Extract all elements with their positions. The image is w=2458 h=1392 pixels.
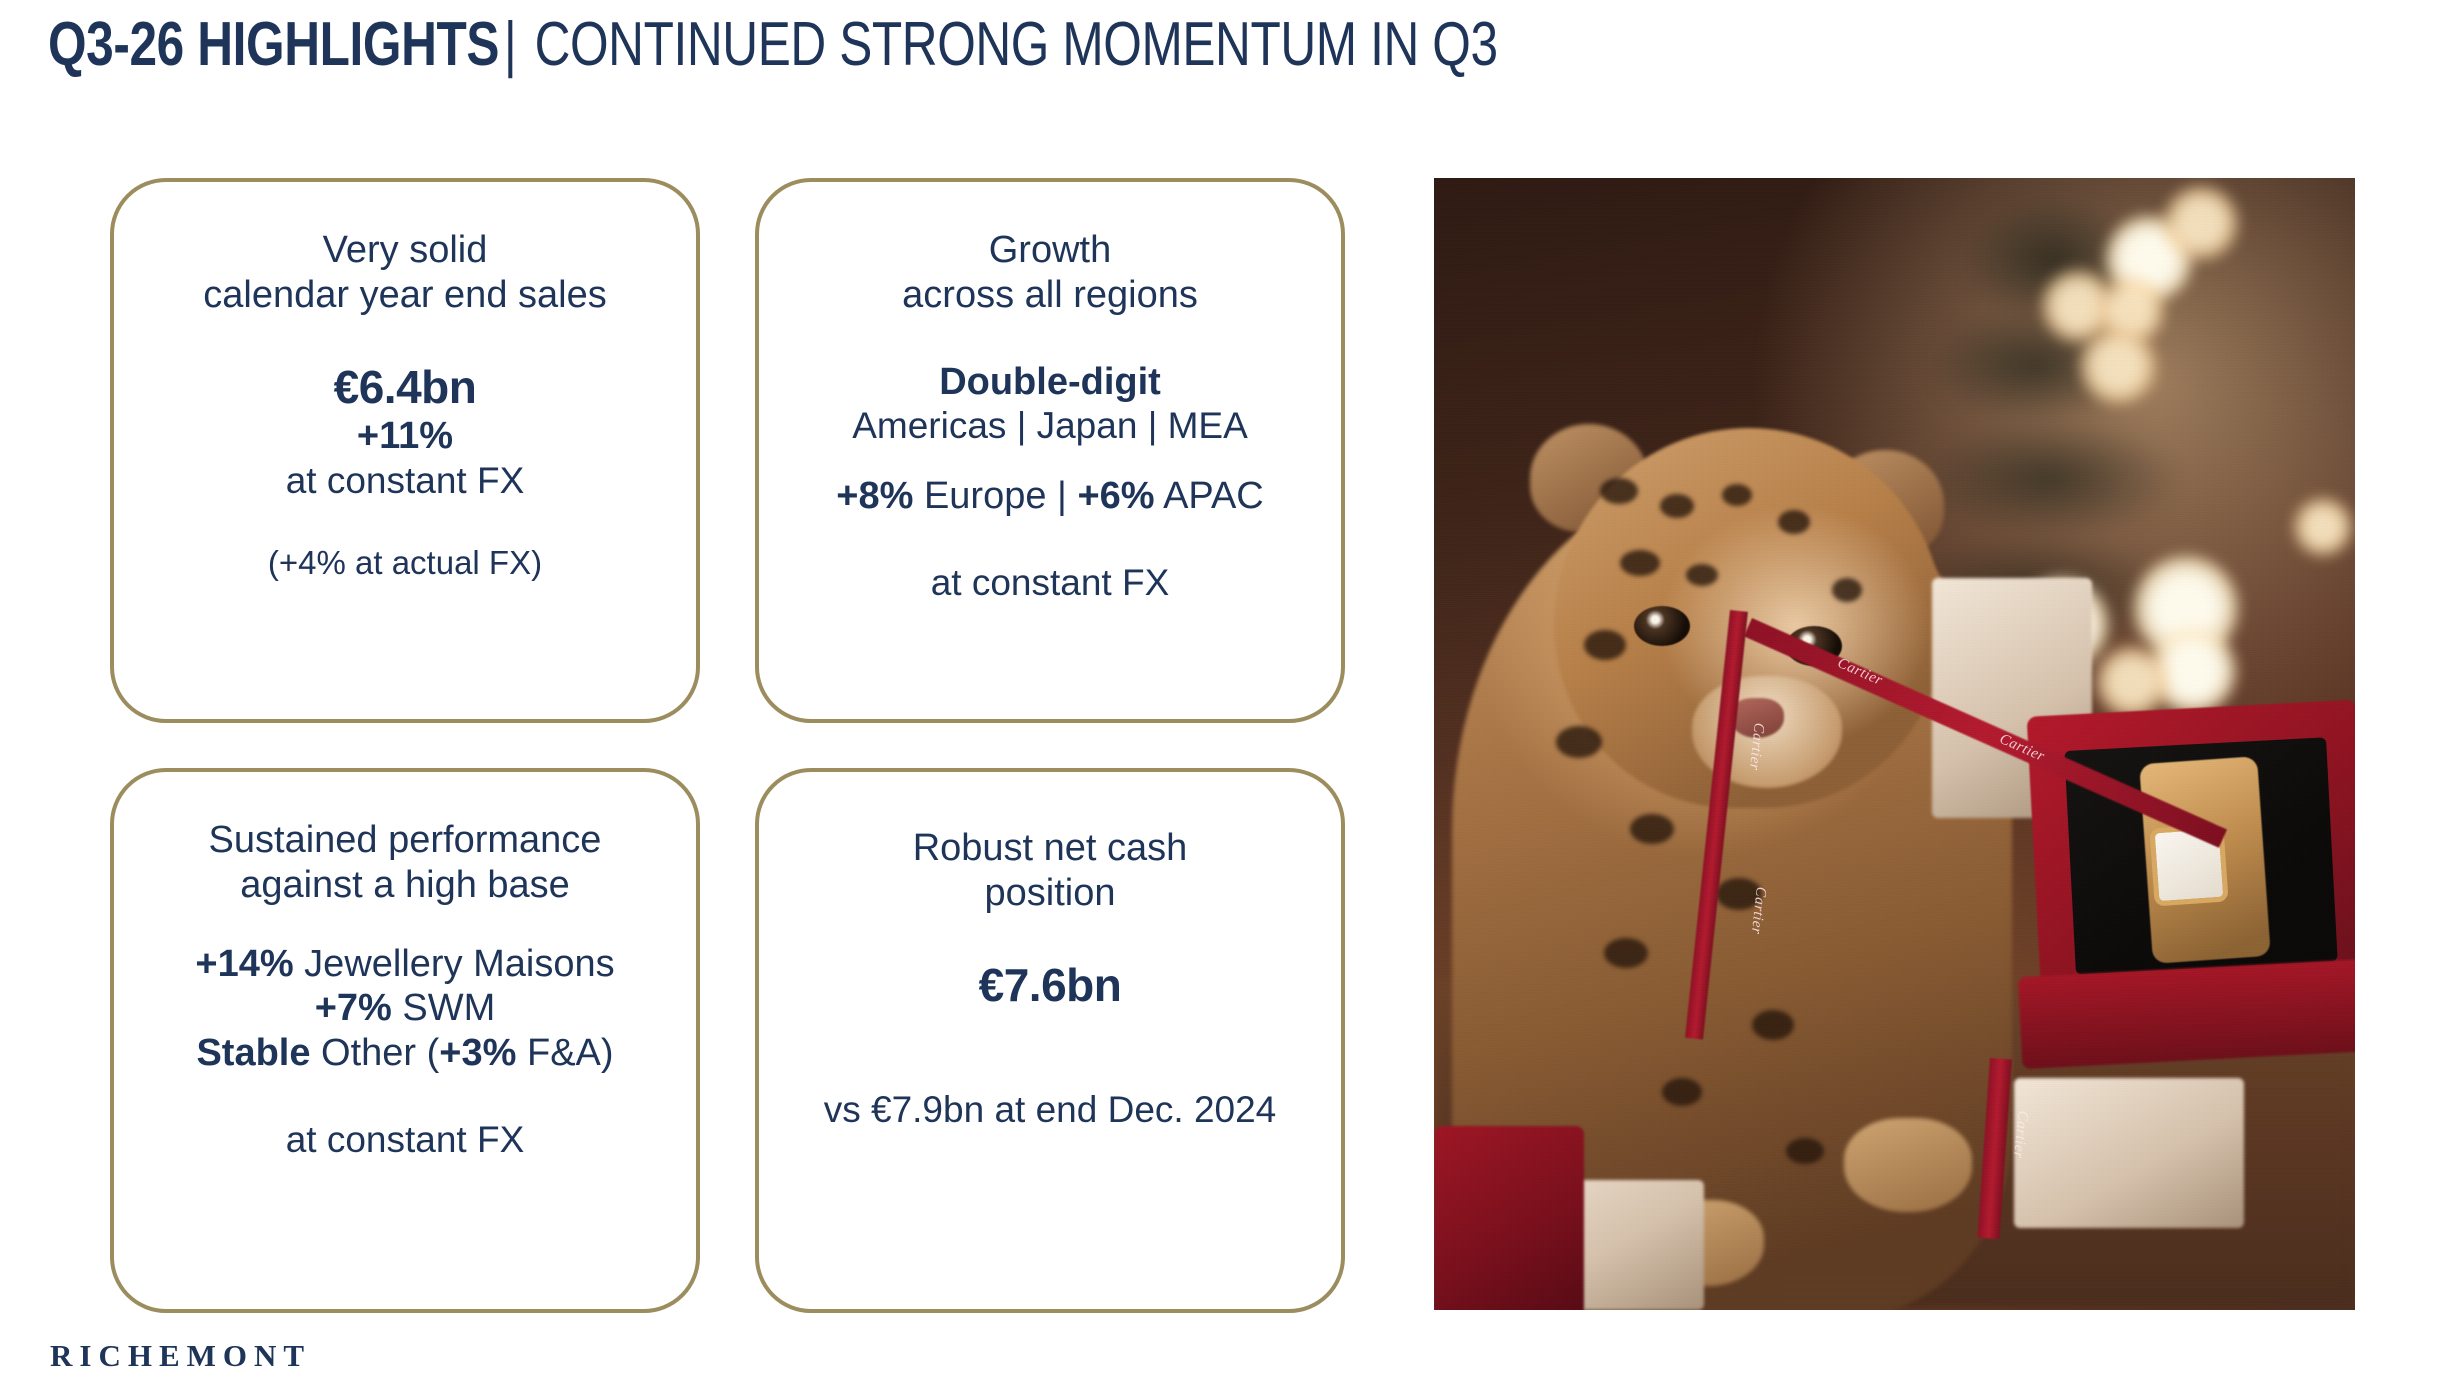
card3-line-jewellery: +14% Jewellery Maisons [195,942,614,987]
card2-apac-pct: +6% [1077,475,1154,517]
card1-basis: at constant FX [286,459,525,503]
card1-footnote: (+4% at actual FX) [268,544,542,583]
card3-jewellery-name: Jewellery Maisons [294,943,615,985]
card3-line-other: Stable Other (+3% F&A) [196,1031,613,1076]
highlight-cards: Very solid calendar year end sales €6.4b… [0,0,1400,1392]
card3-other-name: Other ( [310,1032,439,1074]
richemont-logo: RICHEMONT [50,1338,311,1374]
card3-heading-line1: Sustained performance [209,772,602,863]
card-sustained-performance: Sustained performance against a high bas… [110,768,700,1313]
card3-swm-name: SWM [392,987,495,1029]
card3-line-swm: +7% SWM [315,986,496,1031]
card3-other-pct: Stable [196,1032,310,1074]
card3-swm-pct: +7% [315,987,392,1029]
card-robust-net-cash: Robust net cash position €7.6bn vs €7.9b… [755,768,1345,1313]
card4-footnote: vs €7.9bn at end Dec. 2024 [824,1088,1277,1132]
card2-europe-name: Europe [913,475,1046,517]
card2-basis: at constant FX [931,561,1170,605]
card2-value: Double-digit [939,360,1161,405]
card1-value: €6.4bn [334,360,477,414]
card3-heading-line2: against a high base [240,863,570,908]
card4-heading-line2: position [985,871,1116,916]
card-very-solid-sales: Very solid calendar year end sales €6.4b… [110,178,700,723]
card2-regions-mixed: +8% Europe | +6% APAC [836,474,1263,519]
card2-apac-name: APAC [1155,475,1264,517]
card1-heading-line1: Very solid [323,182,488,273]
card-growth-all-regions: Growth across all regions Double-digit A… [755,178,1345,723]
card2-heading-line1: Growth [989,182,1111,273]
photo-film-grain [1434,178,2355,1310]
card4-heading-line1: Robust net cash [913,772,1188,871]
card4-value: €7.6bn [979,958,1122,1012]
card3-jewellery-pct: +14% [195,943,293,985]
card3-basis: at constant FX [286,1118,525,1162]
card2-regions-double-digit: Americas | Japan | MEA [852,404,1248,448]
card2-heading-line2: across all regions [902,273,1198,318]
card3-fa-pct: +3% [439,1032,516,1074]
hero-photo: Cartier Cartier Cartier Cartier Cartier [1434,178,2355,1310]
card3-fa-name: F&A) [516,1032,613,1074]
card1-growth: +11% [357,414,453,459]
card2-europe-pct: +8% [836,475,913,517]
card2-region-sep: | [1046,475,1077,517]
slide: Q3-26 HIGHLIGHTS| CONTINUED STRONG MOMEN… [0,0,2458,1392]
card1-heading-line2: calendar year end sales [203,273,606,318]
